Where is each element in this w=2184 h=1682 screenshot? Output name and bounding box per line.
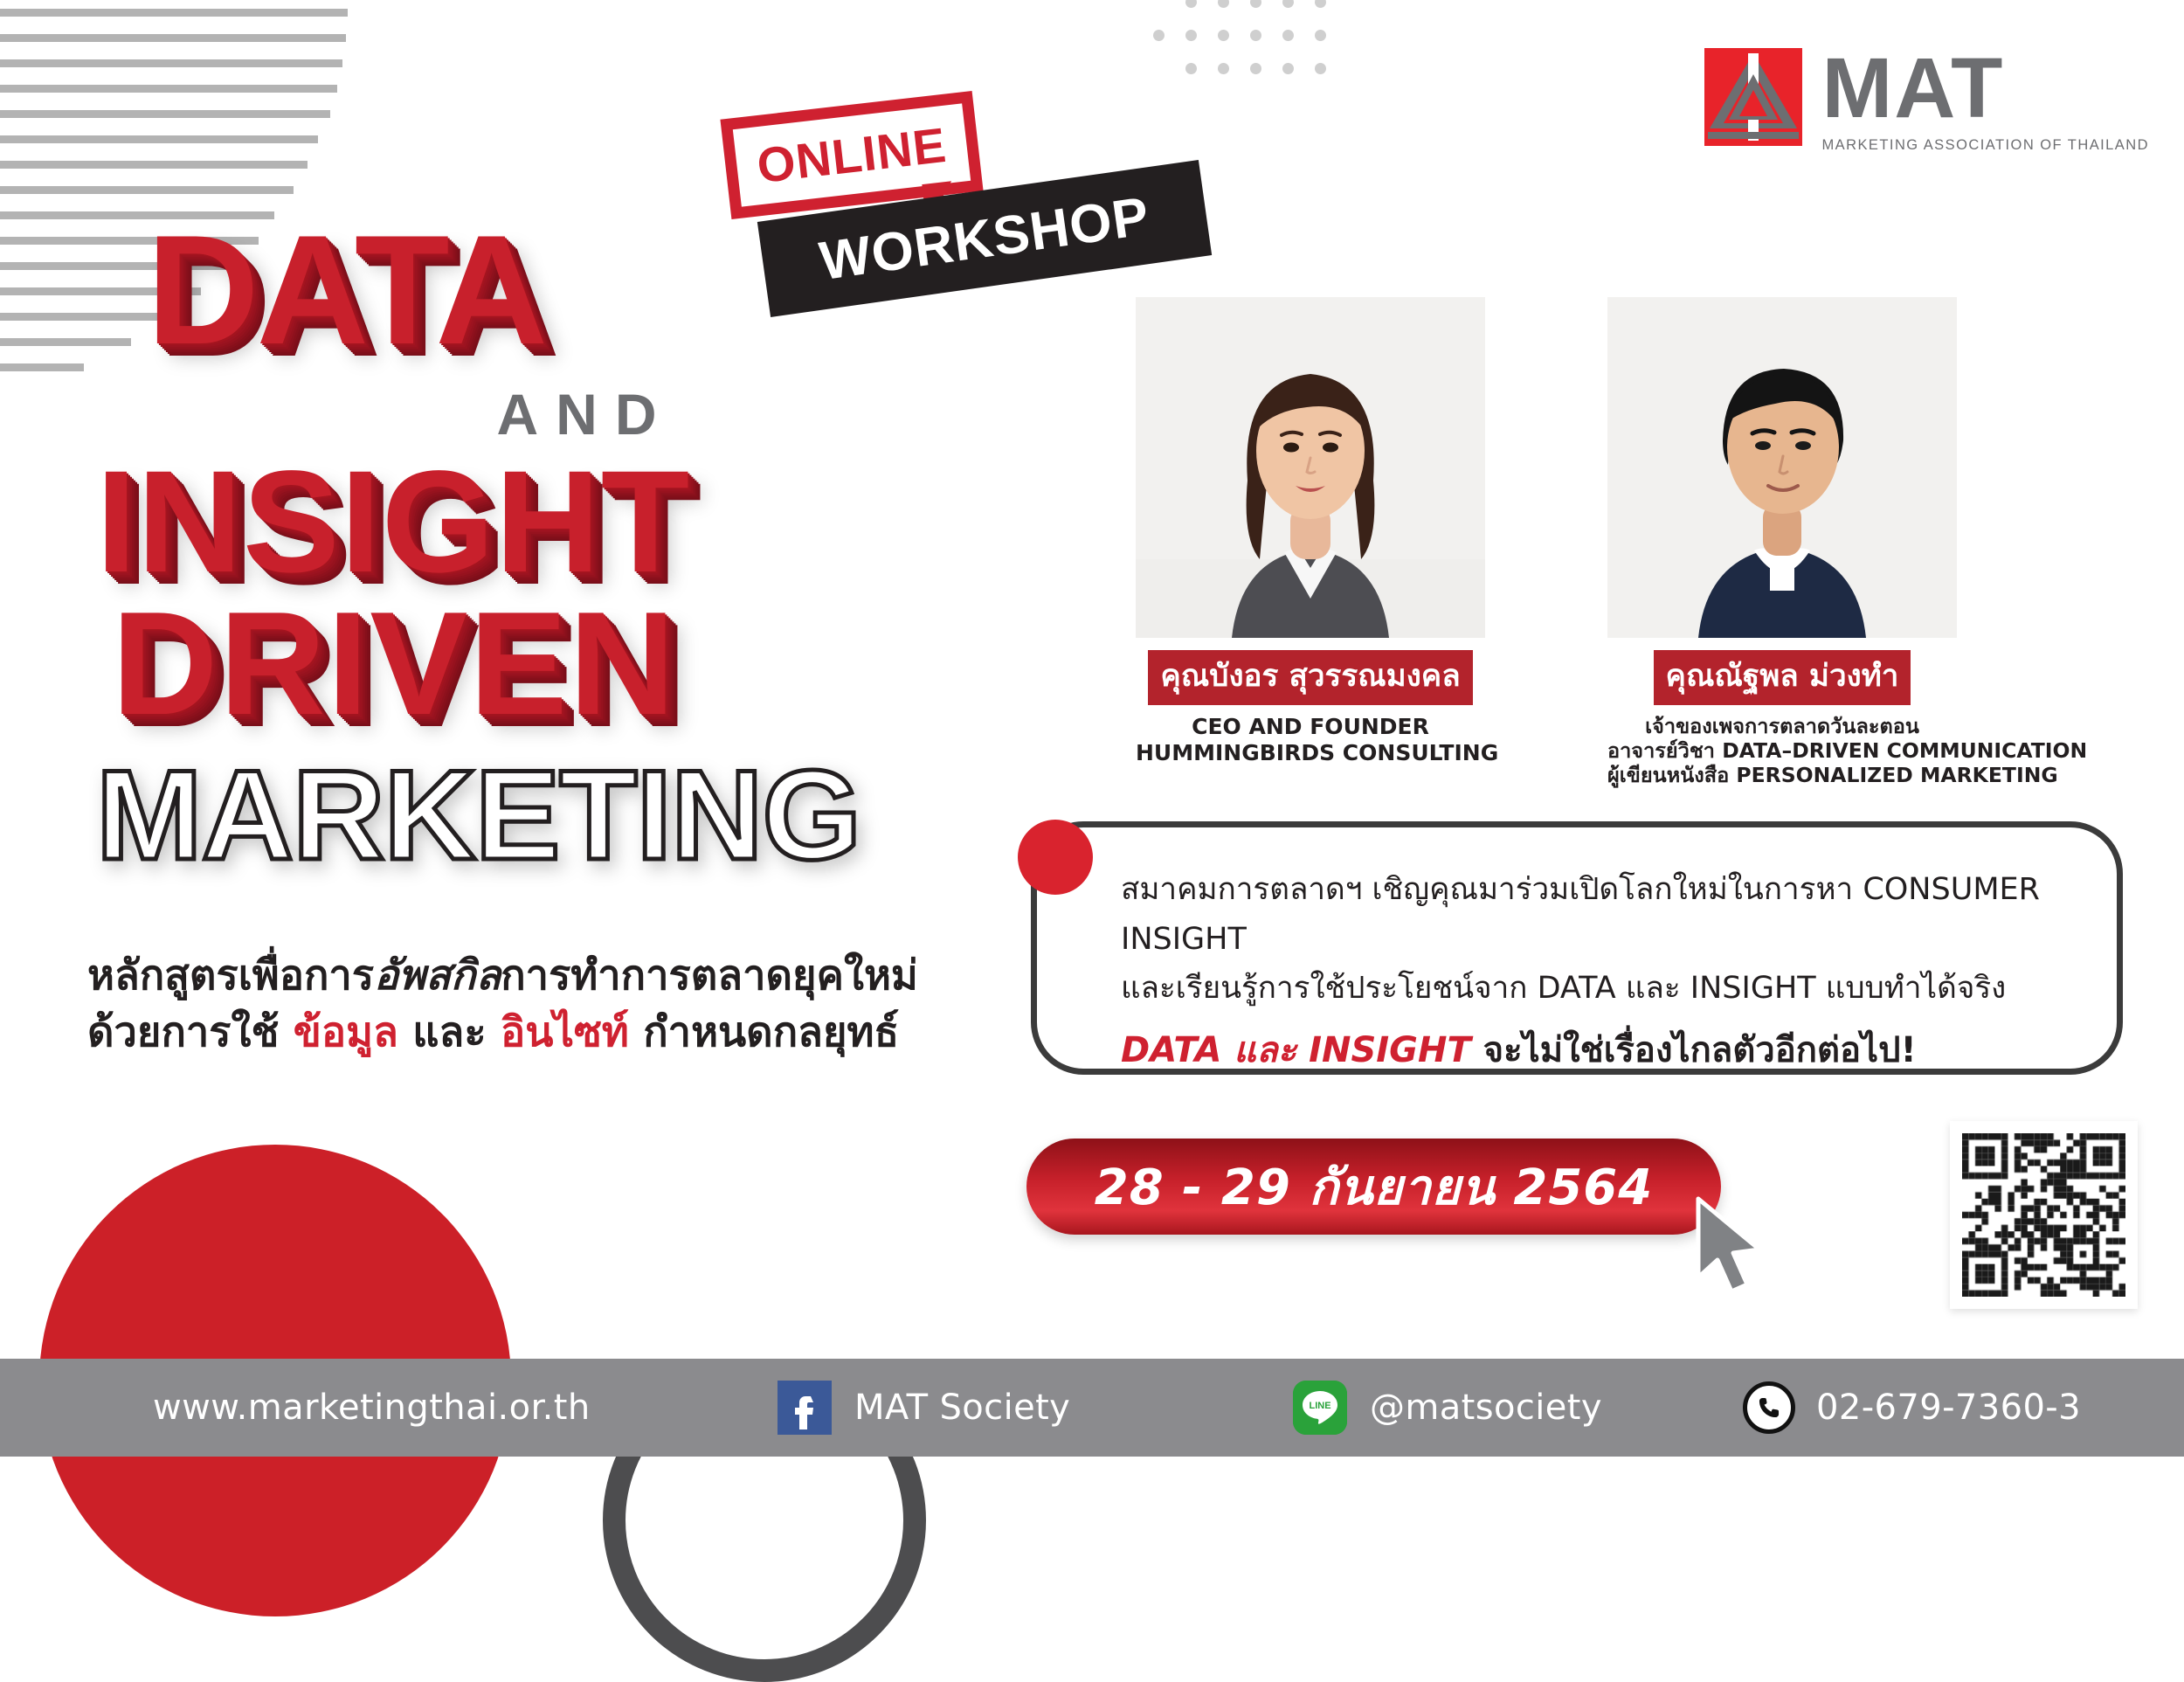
subheadline-2e: กำหนดกลยุทธ์ xyxy=(629,1008,899,1056)
description-line-2: และเรียนรู้การใช้ประโยชน์จาก DATA และ IN… xyxy=(1121,964,2108,1014)
speaker-role-2-line2: อาจารย์วิชา DATA–DRIVEN COMMUNICATION xyxy=(1607,738,1957,763)
grid-dot xyxy=(1153,30,1165,41)
title-line-data: DATA xyxy=(96,218,1022,362)
speaker-name-1: คุณบังอร สุวรรณมงคล xyxy=(1148,650,1472,705)
footer-facebook-label: MAT Society xyxy=(854,1388,1070,1428)
subheadline-1a: หลักสูตรเพื่อการ xyxy=(87,952,374,1000)
grid-dot xyxy=(1315,30,1326,41)
grid-dot xyxy=(1315,63,1326,74)
subheadline-2b: ข้อมูล xyxy=(294,1008,398,1056)
grid-dot xyxy=(1218,30,1229,41)
event-date-label: 28 - 29 กันยายน 2564 xyxy=(1095,1148,1653,1226)
decorative-dot-grid xyxy=(1153,0,1354,128)
description-text: สมาคมการตลาดฯ เชิญคุณมาร่วมเปิดโลกใหม่ใน… xyxy=(1121,865,2108,1079)
mat-logo-wordmark: MAT xyxy=(1821,48,2149,128)
event-date-button[interactable]: 28 - 29 กันยายน 2564 xyxy=(1026,1139,1721,1235)
speed-line xyxy=(0,363,84,371)
grid-dot xyxy=(1250,63,1261,74)
mouse-cursor-icon xyxy=(1693,1195,1777,1296)
footer-line-label: @matsociety xyxy=(1370,1388,1602,1428)
description-line-3-black: จะไม่ใช่เรื่องไกลตัวอีกต่อไป! xyxy=(1471,1030,1917,1070)
grid-dot xyxy=(1250,30,1261,41)
grid-dot xyxy=(1315,0,1326,8)
title-line-marketing: MARKETING xyxy=(96,742,1022,889)
facebook-icon xyxy=(778,1381,832,1435)
footer-website-label: www.marketingthai.or.th xyxy=(153,1388,591,1428)
svg-text:LINE: LINE xyxy=(1309,1401,1330,1411)
qr-code[interactable] xyxy=(1950,1121,2138,1309)
grid-dot xyxy=(1185,30,1197,41)
speaker-role-2-line1: เจ้าของเพจการตลาดวันละตอน xyxy=(1607,714,1957,738)
subheadline-line-2: ด้วยการใช้ ข้อมูล และ อินไซท์ กำหนดกลยุท… xyxy=(87,1005,1022,1062)
grid-dot xyxy=(1218,0,1229,8)
mat-logo-subtitle: MARKETING ASSOCIATION OF THAILAND xyxy=(1821,137,2149,154)
subheadline: หลักสูตรเพื่อการอัพสกิลการทำการตลาดยุคให… xyxy=(87,948,1022,1062)
grid-dot xyxy=(1282,30,1294,41)
description-line-1: สมาคมการตลาดฯ เชิญคุณมาร่วมเปิดโลกใหม่ใน… xyxy=(1121,865,2108,964)
grid-dot xyxy=(1250,0,1261,8)
speaker-role-1-line2: HUMMINGBIRDS CONSULTING xyxy=(1136,740,1485,766)
phone-icon xyxy=(1743,1381,1795,1434)
title-line-insight: INSIGHT xyxy=(96,456,1022,590)
speaker-role-1: CEO AND FOUNDER HUMMINGBIRDS CONSULTING xyxy=(1136,714,1485,766)
subheadline-2c: และ xyxy=(398,1008,501,1056)
subheadline-2d: อินไซท์ xyxy=(501,1008,629,1056)
grid-dot xyxy=(1282,63,1294,74)
mat-logo: MAT MARKETING ASSOCIATION OF THAILAND xyxy=(1704,48,2149,154)
speaker-card-2: คุณณัฐพล ม่วงทำ เจ้าของเพจการตลาดวันละตอ… xyxy=(1607,297,1957,788)
speaker-role-2-line3: ผู้เขียนหนังสือ PERSONALIZED MARKETING xyxy=(1607,763,1957,787)
grid-dot xyxy=(1218,63,1229,74)
footer-phone-label: 02-679-7360-3 xyxy=(1816,1388,2081,1428)
footer-bar: www.marketingthai.or.th MAT Society LINE… xyxy=(0,1359,2184,1457)
speaker-role-2: เจ้าของเพจการตลาดวันละตอน อาจารย์วิชา DA… xyxy=(1607,714,1957,788)
subheadline-1c: การทำการตลาดยุคใหม่ xyxy=(501,952,918,1000)
subheadline-line-1: หลักสูตรเพื่อการอัพสกิลการทำการตลาดยุคให… xyxy=(87,948,1022,1005)
speed-line xyxy=(0,110,330,118)
title-line-driven: DRIVEN xyxy=(96,596,1022,731)
description-line-3: DATA และ INSIGHT จะไม่ใช่เรื่องไกลตัวอีก… xyxy=(1121,1022,2108,1079)
qr-code-image xyxy=(1962,1133,2125,1297)
title-line-and: AND xyxy=(96,381,1022,447)
line-icon: LINE xyxy=(1293,1381,1347,1435)
speed-line xyxy=(0,161,308,169)
speaker-role-1-line1: CEO AND FOUNDER xyxy=(1136,714,1485,740)
speed-line xyxy=(0,85,337,93)
badge-online-label: ONLINE xyxy=(754,116,950,194)
description-line-3-red: DATA และ INSIGHT xyxy=(1121,1030,1471,1070)
speed-line xyxy=(0,135,318,143)
speaker-photo-1 xyxy=(1136,297,1485,638)
mat-logo-mark-icon xyxy=(1704,48,1802,146)
page-title: DATA AND INSIGHT DRIVEN MARKETING xyxy=(96,218,1022,889)
speaker-name-2: คุณณัฐพล ม่วงทำ xyxy=(1654,650,1911,705)
footer-phone[interactable]: 02-679-7360-3 xyxy=(1743,1381,2081,1434)
speaker-card-1: คุณบังอร สุวรรณมงคล CEO AND FOUNDER HUMM… xyxy=(1136,297,1485,766)
grid-dot xyxy=(1185,0,1197,8)
speed-line xyxy=(0,59,342,67)
speed-line xyxy=(0,9,348,17)
speed-line xyxy=(0,186,294,194)
grid-dot xyxy=(1282,0,1294,8)
footer-website[interactable]: www.marketingthai.or.th xyxy=(153,1388,591,1428)
subheadline-2a: ด้วยการใช้ xyxy=(87,1008,294,1056)
subheadline-1b: อัพสกิล xyxy=(374,952,501,1000)
speaker-photo-2 xyxy=(1607,297,1957,638)
speed-line xyxy=(0,34,346,42)
footer-line[interactable]: LINE @matsociety xyxy=(1293,1381,1602,1435)
bubble-red-dot xyxy=(1018,820,1093,895)
grid-dot xyxy=(1185,63,1197,74)
footer-facebook[interactable]: MAT Society xyxy=(778,1381,1070,1435)
